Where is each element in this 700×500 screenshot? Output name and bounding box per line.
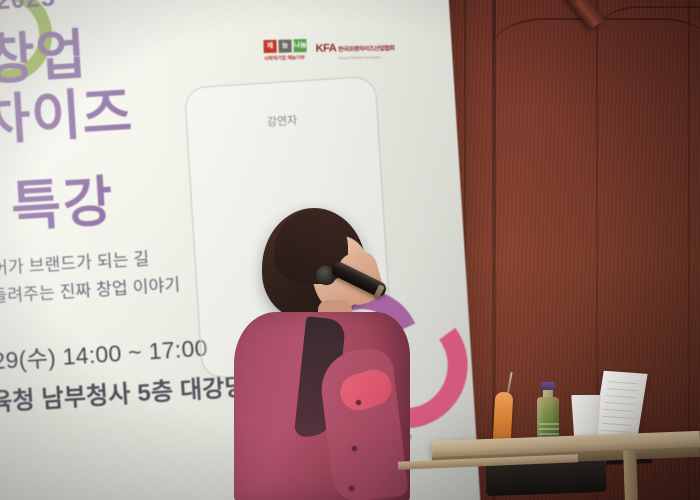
logo-blocks-group: 재 능 나눔 <box>263 39 306 53</box>
kfa-english-name: Korea Franchise Association <box>338 55 394 60</box>
jacket-button <box>349 486 354 491</box>
auditorium-photo: 재 능 나눔 사회적기업 재능기부 KFA 한국프랜차이즈산업협회 Korea … <box>0 0 700 500</box>
wall-arc-trim <box>594 6 700 68</box>
kfa-mark: KFA <box>316 42 337 54</box>
slide-title-line-3: 대표 특강 <box>0 156 117 249</box>
kfa-text-group: 한국프랜차이즈산업협회 Korea Franchise Association <box>338 37 395 60</box>
speaker-person <box>228 200 418 500</box>
kfa-korean-name: 한국프랜차이즈산업협회 <box>338 46 394 53</box>
orange-object <box>493 392 514 445</box>
block-logo-caption: 사회적기업 재능기부 <box>264 54 305 62</box>
logo-block-1: 재 <box>263 40 276 53</box>
kfa-logo: KFA 한국프랜차이즈산업협회 Korea Franchise Associat… <box>315 37 394 61</box>
jacket-button <box>356 400 361 405</box>
water-bottle <box>536 382 560 440</box>
slide-title-line-2: 프랜차이즈 <box>0 67 135 162</box>
logo-block-2: 능 <box>278 39 291 52</box>
slide-venue: 경기도교육청 남부청사 5층 대강당 <box>0 366 248 423</box>
logo-row: 재 능 나눔 사회적기업 재능기부 KFA 한국프랜차이즈산업협회 Korea … <box>263 37 394 62</box>
speaker-card-label: 강연자 <box>266 112 297 130</box>
paper-text-lines <box>600 381 638 433</box>
block-logo: 재 능 나눔 사회적기업 재능기부 <box>263 39 307 62</box>
jacket-button <box>352 446 357 451</box>
logo-block-3: 나눔 <box>293 39 306 52</box>
bottle-body <box>537 397 559 440</box>
podium-leg <box>623 450 638 500</box>
